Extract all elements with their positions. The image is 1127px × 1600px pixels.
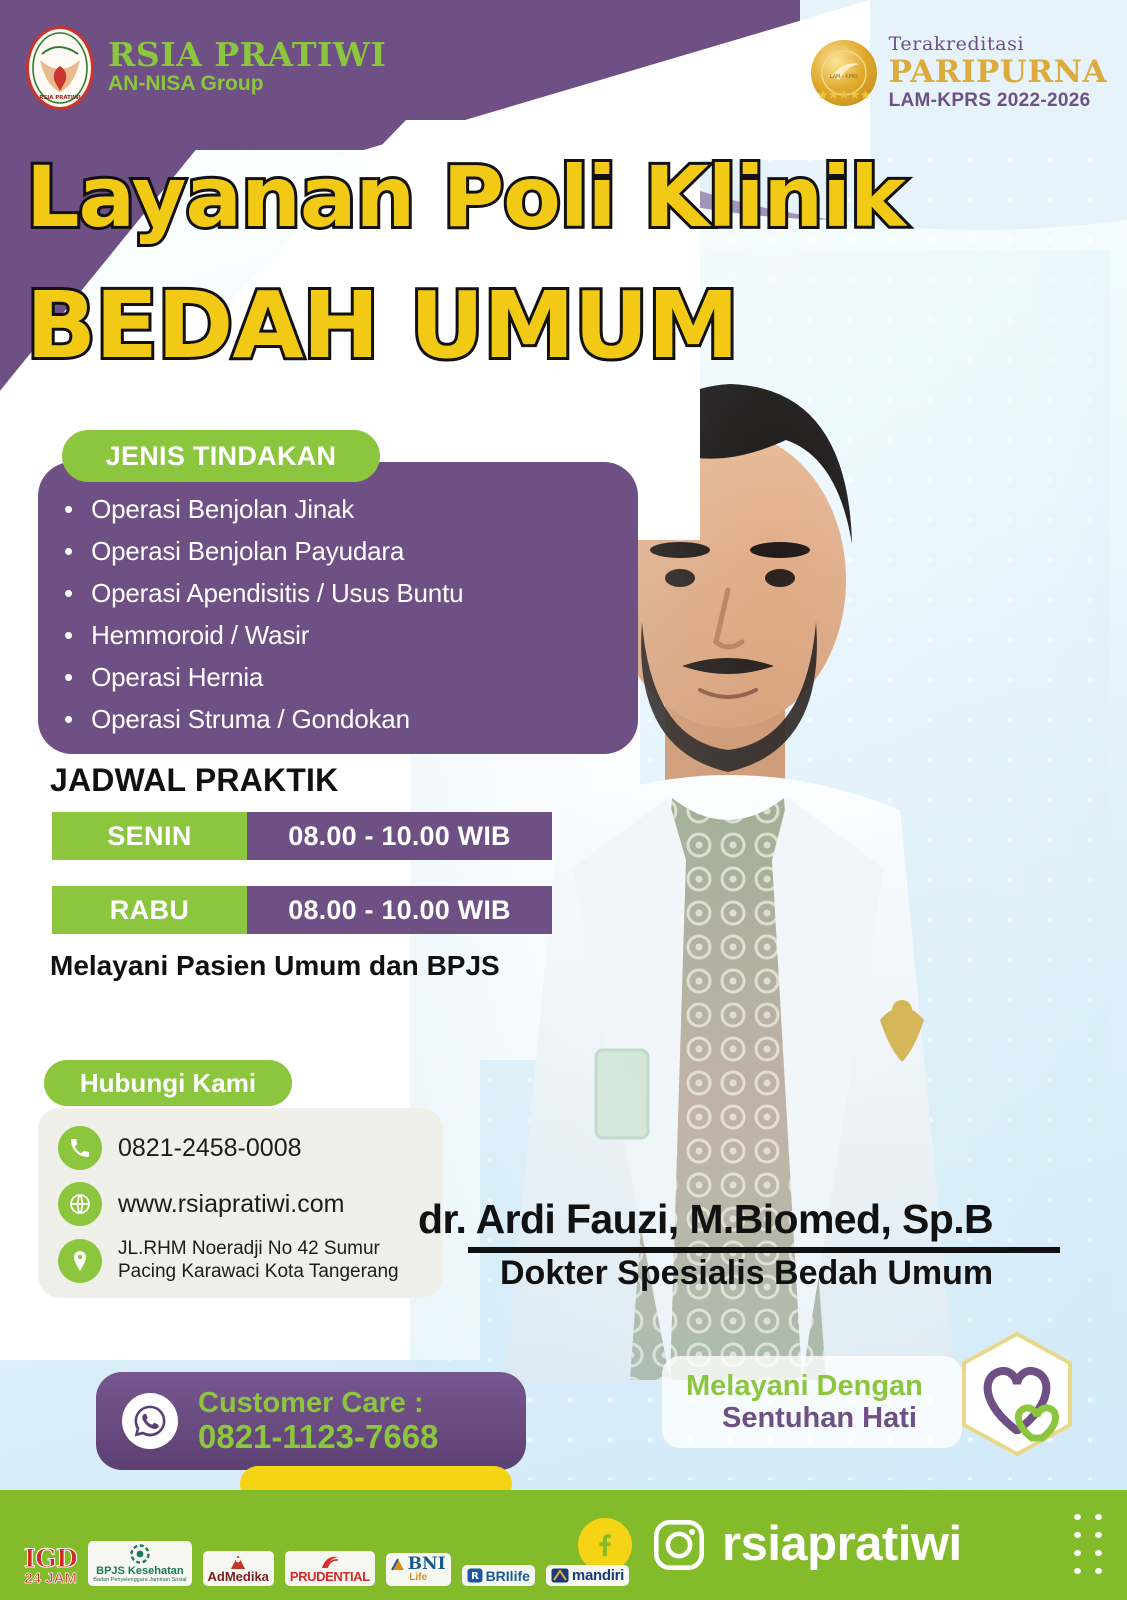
partner-logo-prudential: PRUDENTIAL bbox=[285, 1551, 375, 1586]
partner-logo-mandiri: mandiri bbox=[546, 1565, 629, 1586]
poster-title-line1: Layanan Poli Klinik bbox=[26, 148, 905, 246]
procedure-label: Hemmoroid / Wasir bbox=[91, 620, 309, 651]
poster-root: RSIA PRATIWI RSIA PRATIWI AN-NISA Group … bbox=[0, 0, 1127, 1600]
prudential-mark-icon bbox=[319, 1554, 341, 1570]
address-line1: JL.RHM Noeradji No 42 Sumur bbox=[118, 1238, 380, 1259]
procedure-label: Operasi Apendisitis / Usus Buntu bbox=[91, 578, 463, 609]
partner-igd-line2: 24 JAM bbox=[24, 1571, 77, 1586]
list-item: • Operasi Benjolan Payudara bbox=[64, 536, 624, 578]
accreditation-line2: PARIPURNA bbox=[889, 55, 1107, 90]
list-item: • Operasi Struma / Gondokan bbox=[64, 704, 624, 746]
partner-logo-bpjs: BPJS Kesehatan Badan Penyelenggara Jamin… bbox=[88, 1541, 191, 1587]
svg-text:LAM - KPRS: LAM - KPRS bbox=[829, 74, 858, 80]
bullet-icon: • bbox=[64, 496, 73, 522]
schedule-time: 08.00 - 10.00 WIB bbox=[247, 886, 552, 934]
dot-grid-icon bbox=[1067, 1508, 1109, 1582]
customer-care-number: 0821-1123-7668 bbox=[198, 1418, 438, 1455]
procedures-list: • Operasi Benjolan Jinak • Operasi Benjo… bbox=[64, 494, 624, 746]
partner-logo-igd: IGD 24 JAM bbox=[24, 1546, 77, 1586]
contact-website: www.rsiapratiwi.com bbox=[118, 1190, 344, 1219]
schedule-day: RABU bbox=[52, 886, 247, 934]
map-pin-icon bbox=[58, 1239, 102, 1283]
bpjs-emblem-icon bbox=[127, 1544, 153, 1566]
bullet-icon: • bbox=[64, 622, 73, 648]
whatsapp-icon bbox=[122, 1393, 178, 1449]
bri-mark-icon: R bbox=[467, 1568, 483, 1583]
schedule-heading: JADWAL PRAKTIK bbox=[50, 762, 338, 799]
partner-bni-sublabel: Life bbox=[409, 1573, 427, 1583]
instagram-icon[interactable] bbox=[650, 1516, 708, 1574]
partner-bni-label: BNI bbox=[408, 1556, 446, 1573]
address-line2: Pacing Karawaci Kota Tangerang bbox=[118, 1261, 399, 1282]
procedure-label: Operasi Benjolan Jinak bbox=[91, 494, 354, 525]
accreditation-block: LAM - KPRS ★★★★★ Terakreditasi PARIPURNA… bbox=[811, 34, 1107, 111]
partner-logo-admedika: AdMedika bbox=[203, 1551, 274, 1586]
bullet-icon: • bbox=[64, 538, 73, 564]
contact-address-row: JL.RHM Noeradji No 42 Sumur Pacing Karaw… bbox=[58, 1238, 448, 1284]
contact-rows: 0821-2458-0008 www.rsiapratiwi.com JL.RH… bbox=[58, 1126, 448, 1296]
procedure-label: Operasi Hernia bbox=[91, 662, 263, 693]
list-item: • Operasi Hernia bbox=[64, 662, 624, 704]
doctor-role: Dokter Spesialis Bedah Umum bbox=[500, 1254, 993, 1293]
partner-prudential-label: PRUDENTIAL bbox=[290, 1570, 370, 1583]
svg-text:RSIA PRATIWI: RSIA PRATIWI bbox=[39, 95, 81, 101]
procedures-heading: JENIS TINDAKAN bbox=[62, 430, 380, 482]
doctor-name: dr. Ardi Fauzi, M.Biomed, Sp.B bbox=[418, 1196, 993, 1243]
globe-icon bbox=[58, 1182, 102, 1226]
tagline-line2: Sentuhan Hati bbox=[722, 1402, 917, 1435]
partner-bpjs-line2: Badan Penyelenggara Jaminan Sosial bbox=[93, 1578, 186, 1584]
brand-logo-block: RSIA PRATIWI RSIA PRATIWI AN-NISA Group bbox=[26, 26, 386, 110]
customer-care-label: Customer Care : bbox=[198, 1387, 424, 1419]
bullet-icon: • bbox=[64, 664, 73, 690]
partner-igd-line1: IGD bbox=[24, 1546, 77, 1571]
list-item: • Operasi Apendisitis / Usus Buntu bbox=[64, 578, 624, 620]
svg-text:R: R bbox=[471, 1571, 479, 1582]
partner-bpjs-line1: BPJS Kesehatan bbox=[96, 1566, 183, 1577]
contact-address: JL.RHM Noeradji No 42 Sumur Pacing Karaw… bbox=[118, 1238, 399, 1284]
bullet-icon: • bbox=[64, 580, 73, 606]
procedure-label: Operasi Struma / Gondokan bbox=[91, 704, 410, 735]
accreditation-line1: Terakreditasi bbox=[889, 34, 1107, 55]
contact-phone-row[interactable]: 0821-2458-0008 bbox=[58, 1126, 448, 1170]
mandiri-mark-icon bbox=[551, 1568, 569, 1583]
contact-website-row[interactable]: www.rsiapratiwi.com bbox=[58, 1182, 448, 1226]
list-item: • Operasi Benjolan Jinak bbox=[64, 494, 624, 536]
brand-name: RSIA PRATIWI bbox=[108, 38, 386, 71]
bullet-icon: • bbox=[64, 706, 73, 732]
doctor-name-divider bbox=[468, 1247, 1060, 1253]
list-item: • Hemmoroid / Wasir bbox=[64, 620, 624, 662]
social-handle[interactable]: rsiapratiwi bbox=[722, 1516, 962, 1572]
procedure-label: Operasi Benjolan Payudara bbox=[91, 536, 404, 567]
rsia-pratiwi-logo-icon: RSIA PRATIWI bbox=[26, 26, 94, 110]
tagline-line1: Melayani Dengan bbox=[686, 1370, 923, 1403]
phone-icon bbox=[58, 1126, 102, 1170]
partner-logo-brilife: R BRIlife bbox=[462, 1565, 535, 1586]
heart-hexagon-icon bbox=[958, 1330, 1076, 1458]
schedule-day: SENIN bbox=[52, 812, 247, 860]
partner-logo-bni-life: BNI Life bbox=[386, 1553, 451, 1586]
accreditation-medal-icon: LAM - KPRS ★★★★★ bbox=[811, 40, 877, 106]
contact-phone: 0821-2458-0008 bbox=[118, 1134, 302, 1163]
schedule-row: RABU 08.00 - 10.00 WIB bbox=[52, 886, 552, 934]
contact-heading: Hubungi Kami bbox=[44, 1060, 292, 1106]
brand-group: AN-NISA Group bbox=[108, 71, 386, 97]
schedule-row: SENIN 08.00 - 10.00 WIB bbox=[52, 812, 552, 860]
partner-mandiri-label: mandiri bbox=[572, 1568, 624, 1583]
customer-care-banner[interactable]: Customer Care : 0821-1123-7668 bbox=[96, 1372, 526, 1470]
poster-title-line2: BEDAH UMUM bbox=[26, 272, 738, 379]
schedule-time: 08.00 - 10.00 WIB bbox=[247, 812, 552, 860]
accreditation-line3: LAM-KPRS 2022-2026 bbox=[889, 90, 1107, 111]
medal-stars-icon: ★★★★★ bbox=[811, 87, 877, 103]
bni-mark-icon bbox=[391, 1558, 405, 1572]
partner-admedika-label: AdMedika bbox=[208, 1570, 269, 1583]
partner-brilife-label: BRIlife bbox=[486, 1569, 530, 1583]
schedule-note: Melayani Pasien Umum dan BPJS bbox=[50, 950, 500, 982]
admedika-mark-icon bbox=[229, 1554, 247, 1570]
partner-logos: IGD 24 JAM BPJS Kesehatan Badan Penyelen… bbox=[24, 1541, 629, 1587]
